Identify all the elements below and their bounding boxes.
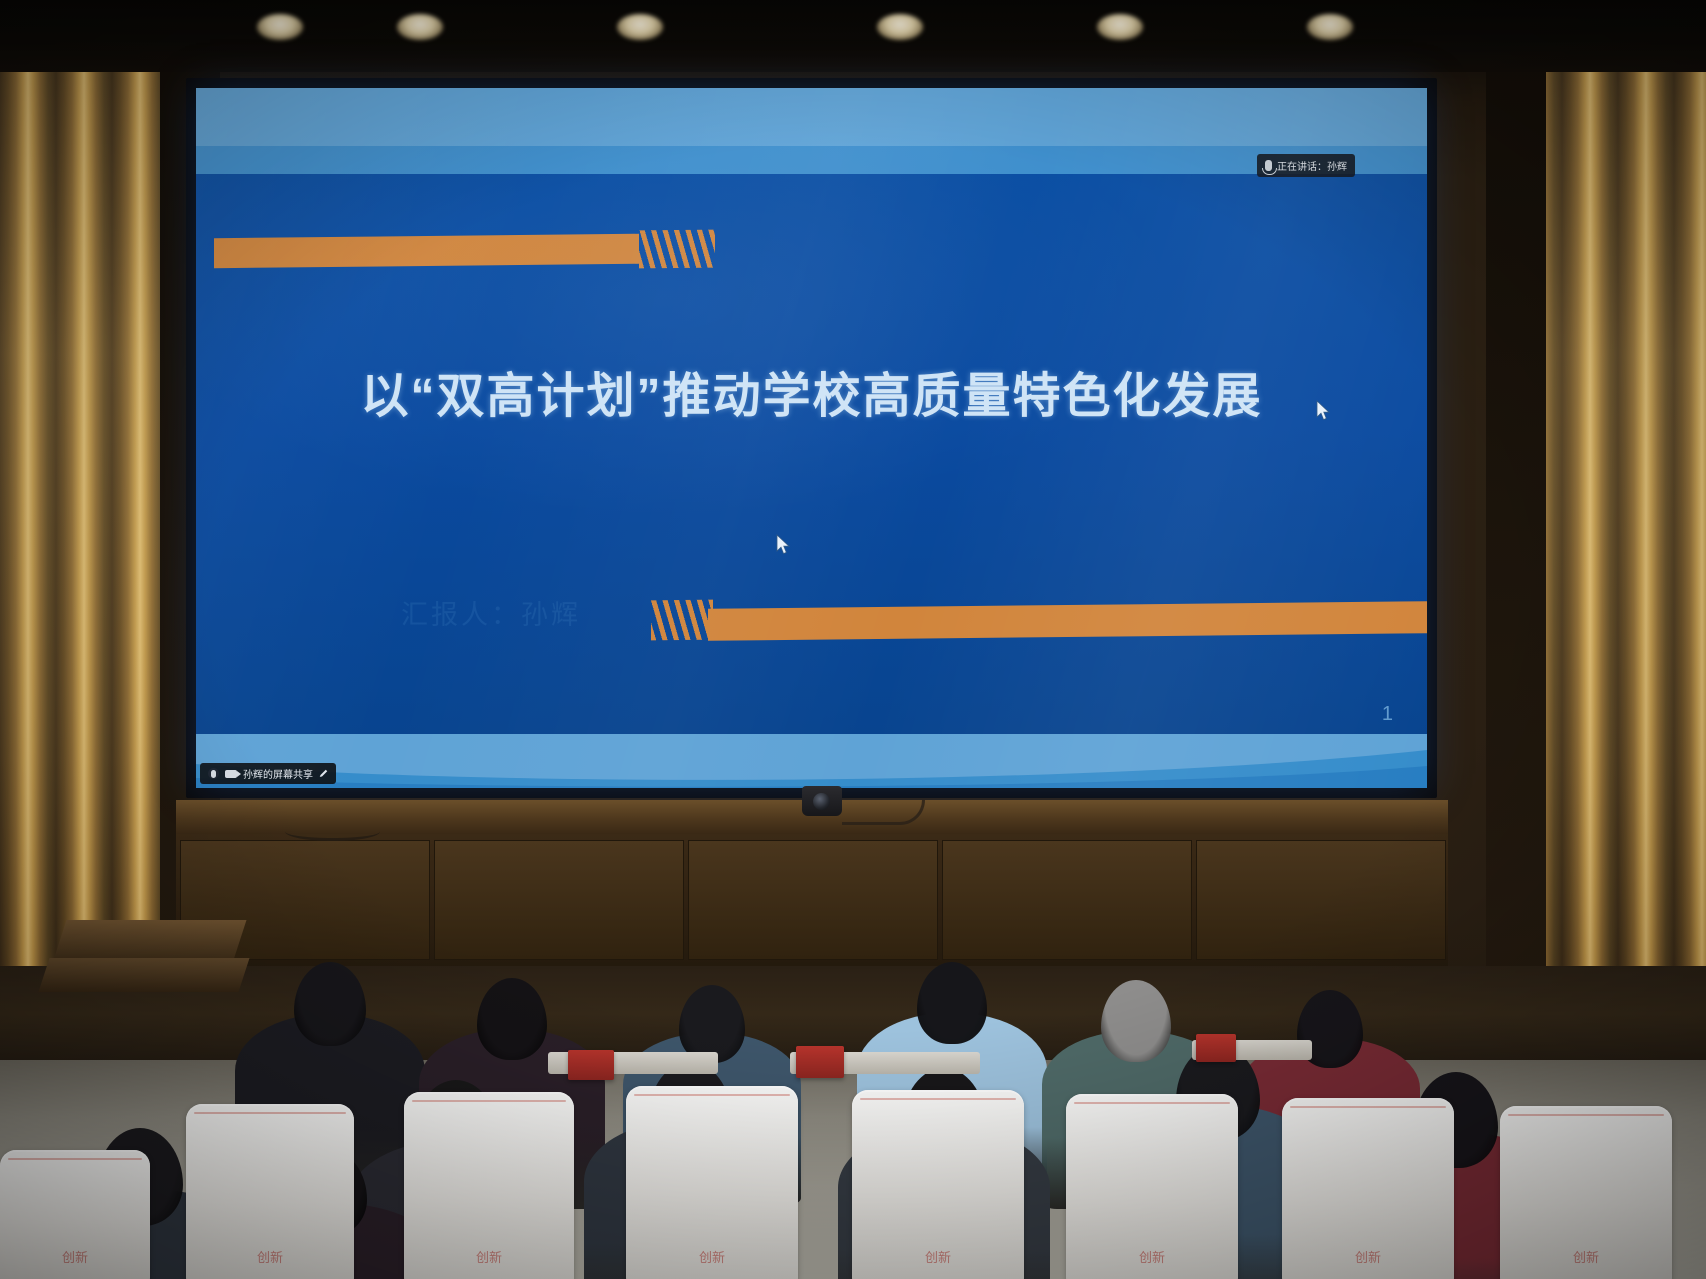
ceiling-light-6 xyxy=(1307,14,1353,40)
seat-trim xyxy=(1508,1114,1664,1116)
audience-seat-4[interactable]: 创新 xyxy=(852,1090,1024,1279)
slide-bottom-wave xyxy=(196,734,1427,788)
seat-trim xyxy=(860,1098,1016,1100)
audience-seat-2[interactable]: 创新 xyxy=(404,1092,574,1279)
audience-seat-5[interactable]: 创新 xyxy=(1066,1094,1238,1279)
speaker-badge-label: 正在讲话：孙辉 xyxy=(1277,158,1347,173)
seat-logo: 创新 xyxy=(852,1247,1024,1266)
projection-screen[interactable]: 以“双高计划”推动学校高质量特色化发展 汇报人：孙辉 1 正在讲话：孙辉 孙辉的… xyxy=(196,88,1427,788)
ceiling-band xyxy=(0,0,1706,72)
cabinet-door-3 xyxy=(688,840,938,960)
camera-cable xyxy=(842,800,925,825)
slide-accent-stripes-bottom xyxy=(651,600,713,641)
speaker-badge[interactable]: 正在讲话：孙辉 xyxy=(1257,154,1355,177)
ceiling-light-1 xyxy=(257,14,303,40)
ptz-camera xyxy=(802,786,842,816)
audience-seat-8[interactable]: 创新 xyxy=(0,1150,150,1279)
cabinet-door-5 xyxy=(1196,840,1446,960)
name-card-2 xyxy=(796,1046,844,1078)
seat-logo: 创新 xyxy=(1500,1247,1672,1266)
screen-share-bar[interactable]: 孙辉的屏幕共享 xyxy=(200,763,336,784)
cabinet-door-2 xyxy=(434,840,684,960)
stage-cable xyxy=(285,822,380,841)
microphone-icon xyxy=(1265,160,1272,171)
seat-trim xyxy=(412,1100,566,1102)
conference-hall-photo: 以“双高计划”推动学校高质量特色化发展 汇报人：孙辉 1 正在讲话：孙辉 孙辉的… xyxy=(0,0,1706,1279)
slide-top-band xyxy=(196,88,1427,146)
ceiling-light-2 xyxy=(397,14,443,40)
slide-presenter: 汇报人：孙辉 xyxy=(401,593,581,632)
audience-seat-1[interactable]: 创新 xyxy=(186,1104,354,1279)
ceiling-light-3 xyxy=(617,14,663,40)
name-card-1 xyxy=(568,1050,614,1080)
name-card-3 xyxy=(1196,1034,1236,1062)
seat-logo: 创新 xyxy=(1282,1247,1454,1266)
audience-seat-6[interactable]: 创新 xyxy=(1282,1098,1454,1279)
seat-logo: 创新 xyxy=(186,1247,354,1266)
ceiling-light-5 xyxy=(1097,14,1143,40)
seat-trim xyxy=(1074,1102,1230,1104)
inner-wall-panel-right xyxy=(1486,0,1546,1010)
seat-logo: 创新 xyxy=(0,1247,150,1266)
audience-seat-7[interactable]: 创新 xyxy=(1500,1106,1672,1279)
seat-trim xyxy=(1290,1106,1446,1108)
slide-page-number: 1 xyxy=(1382,703,1393,726)
seat-trim xyxy=(634,1094,790,1096)
seat-logo: 创新 xyxy=(404,1247,574,1266)
stage-step-lower xyxy=(38,958,249,992)
seat-logo: 创新 xyxy=(1066,1247,1238,1266)
slide-title: 以“双高计划”推动学校高质量特色化发展 xyxy=(196,356,1427,426)
slide-accent-bar-top xyxy=(214,234,639,268)
seat-trim xyxy=(8,1158,142,1160)
seat-trim xyxy=(194,1112,346,1114)
pencil-icon[interactable] xyxy=(319,769,328,778)
microphone-icon[interactable] xyxy=(208,768,219,779)
cabinet-door-4 xyxy=(942,840,1192,960)
share-bar-label: 孙辉的屏幕共享 xyxy=(243,766,313,781)
slide-accent-stripes-top xyxy=(639,230,715,269)
stage-step-upper xyxy=(54,920,247,960)
camera-icon[interactable] xyxy=(225,770,237,778)
audience-seat-3[interactable]: 创新 xyxy=(626,1086,798,1279)
ceiling-light-4 xyxy=(877,14,923,40)
slide-top-band-secondary xyxy=(196,146,1427,174)
seat-logo: 创新 xyxy=(626,1247,798,1266)
